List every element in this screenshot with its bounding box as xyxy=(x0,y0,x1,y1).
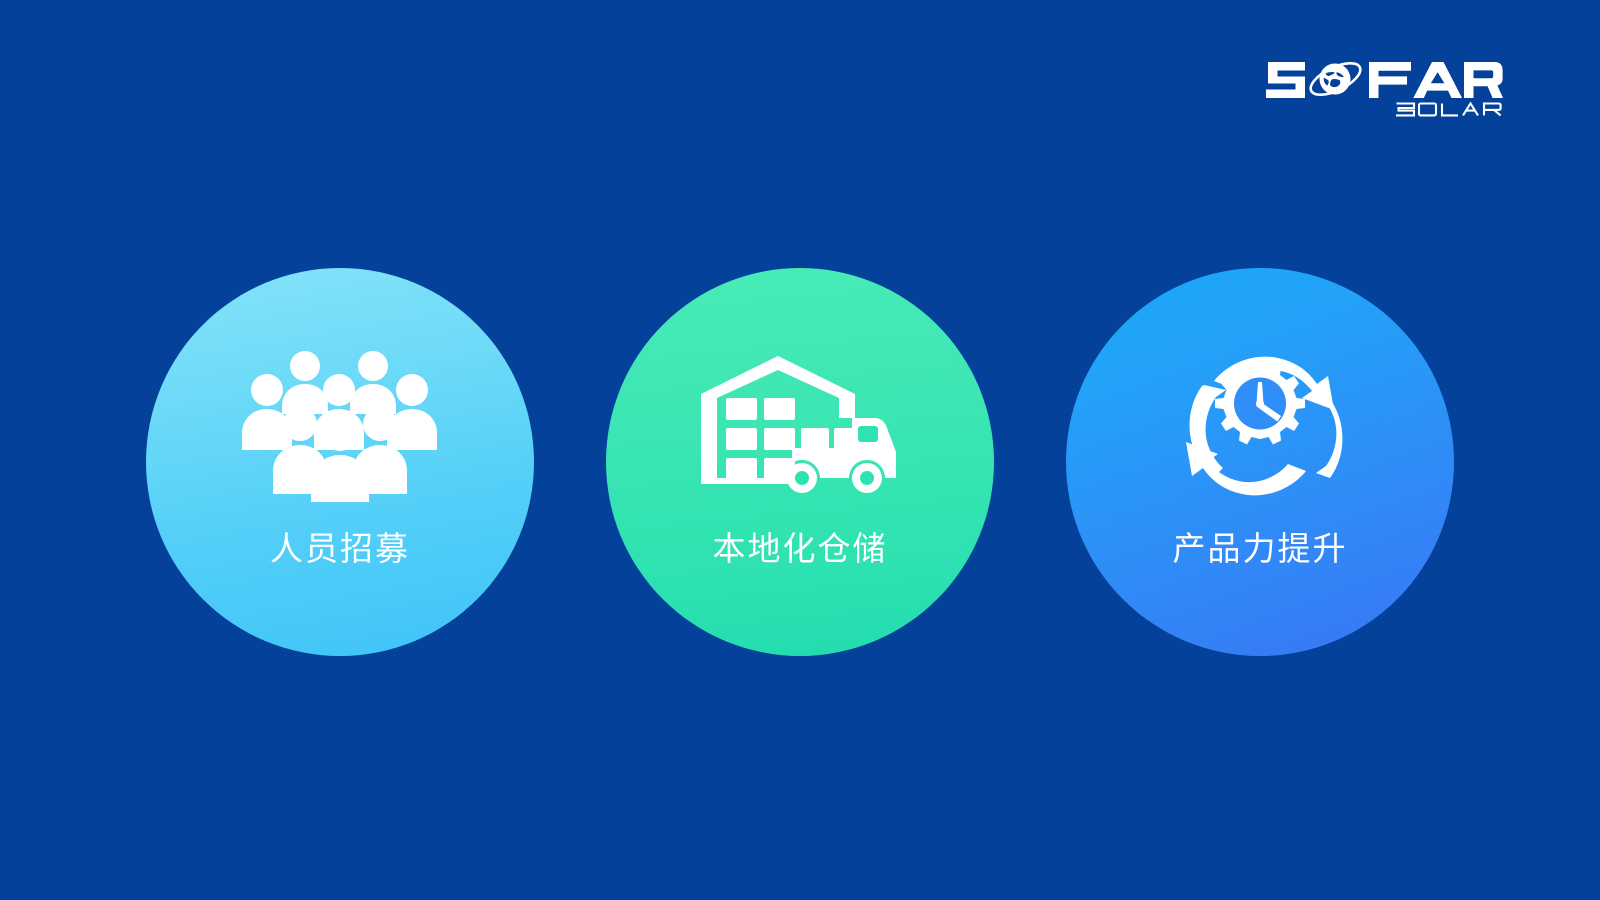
feature-circle-label: 本地化仓储 xyxy=(713,532,888,565)
feature-circle-row: 人员招募 xyxy=(0,262,1600,662)
feature-circle-label: 产品力提升 xyxy=(1173,532,1348,565)
sofar-solar-logo xyxy=(1264,48,1504,120)
slide-canvas: 人员招募 xyxy=(0,0,1600,900)
gear-clock-cycle-icon xyxy=(1160,346,1360,506)
feature-circle-label: 人员招募 xyxy=(270,532,410,565)
feature-circle-personnel-recruitment[interactable]: 人员招募 xyxy=(146,268,534,656)
feature-circle-product-capability[interactable]: 产品力提升 xyxy=(1066,268,1454,656)
feature-circle-localized-warehousing[interactable]: 本地化仓储 xyxy=(606,268,994,656)
warehouse-truck-icon xyxy=(700,346,900,506)
people-group-icon xyxy=(240,346,440,506)
